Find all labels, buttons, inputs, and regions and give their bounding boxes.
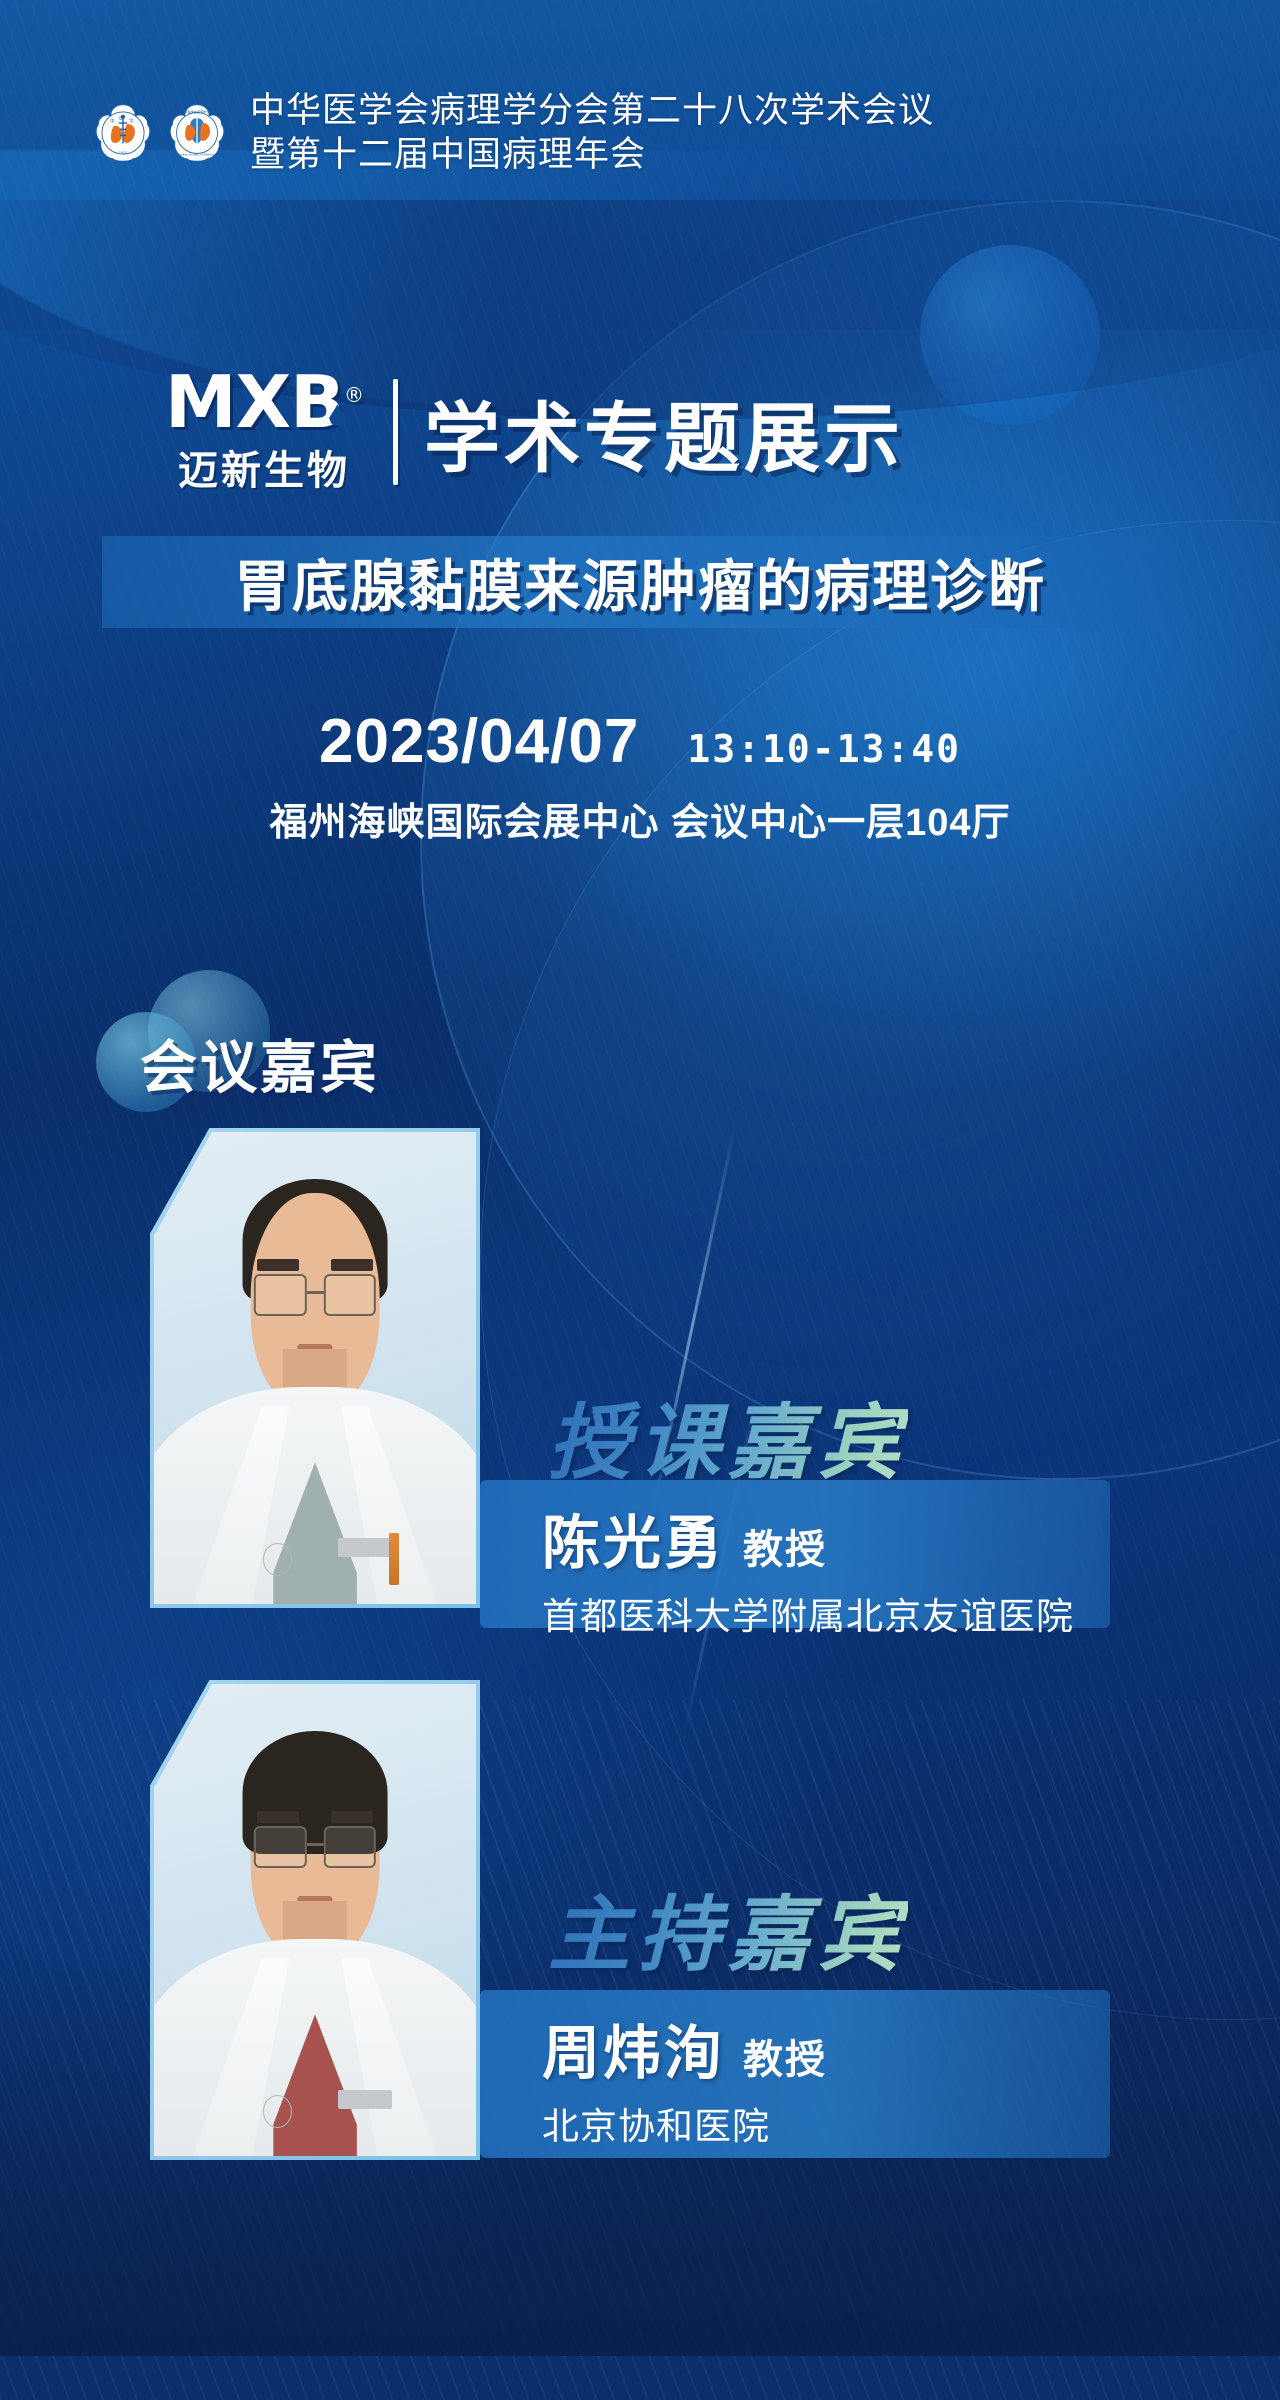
event-venue: 福州海峡国际会展中心 会议中心一层104厅	[0, 791, 1280, 846]
svg-text:医: 医	[119, 115, 124, 121]
event-time: 13:10-13:40	[687, 727, 961, 771]
speaker-card: 授课嘉宾 陈光勇 教授 首都医科大学附属北京友谊医院	[0, 1128, 1280, 1648]
portrait-eyebrow-left	[257, 1811, 299, 1823]
chinese-medical-association-emblem: 中 医 学 1915	[92, 102, 154, 164]
speaker-organization: 首都医科大学附属北京友谊医院	[542, 1586, 1110, 1640]
speaker-photo	[154, 1132, 476, 1604]
lecture-subtitle: 胃底腺黏膜来源肿瘤的病理诊断	[234, 542, 1046, 623]
portrait-glasses	[254, 1274, 376, 1316]
glasses-lens-left	[254, 1274, 307, 1316]
portrait-eyebrow-left	[257, 1259, 299, 1271]
conference-title-line-1: 中华医学会病理学分会第二十八次学术会议	[250, 89, 934, 133]
conference-title-line-2: 暨第十二届中国病理年会	[250, 133, 934, 177]
portrait-glasses	[254, 1826, 376, 1868]
conference-title: 中华医学会病理学分会第二十八次学术会议 暨第十二届中国病理年会	[250, 89, 934, 177]
event-datetime-block: 2023/04/07 13:10-13:40 福州海峡国际会展中心 会议中心一层…	[0, 706, 1280, 846]
mxb-logo: MXB® 迈新生物	[165, 368, 363, 496]
speaker-name-line: 陈光勇 教授	[542, 1496, 1110, 1580]
portrait-pen	[389, 1533, 399, 1585]
portrait-coat-logo	[263, 1543, 292, 1576]
glasses-bridge	[306, 1291, 323, 1294]
event-date: 2023/04/07	[319, 706, 639, 777]
speaker-name-plate: 周炜洵 教授 北京协和医院	[480, 1990, 1110, 2158]
speaker-name-plate: 陈光勇 教授 首都医科大学附属北京友谊医院	[480, 1480, 1110, 1628]
svg-text:中华医学会病理学分会: 中华医学会病理学分会	[182, 109, 213, 114]
mxb-letters: MXB	[165, 360, 344, 444]
emblem-group: 中 医 学 1915 中华医学会病理学分会 Chinese Society of…	[92, 102, 228, 164]
portrait-coat-logo	[263, 2095, 292, 2128]
speaker-organization: 北京协和医院	[542, 2096, 1110, 2150]
speaker-name-line: 周炜洵 教授	[542, 2006, 1110, 2090]
speaker-photo	[154, 1684, 476, 2156]
speaker-photo-frame	[150, 1128, 480, 1608]
speaker-title: 教授	[743, 2027, 827, 2085]
date-time-row: 2023/04/07 13:10-13:40	[0, 706, 1280, 777]
lecture-subtitle-bar: 胃底腺黏膜来源肿瘤的病理诊断	[102, 536, 1178, 628]
portrait-eyebrow-right	[331, 1811, 373, 1823]
poster-header: 中 医 学 1915 中华医学会病理学分会 Chinese Society of…	[0, 78, 1280, 188]
glasses-lens-right	[324, 1274, 377, 1316]
portrait-name-badge	[338, 2090, 393, 2109]
speaker-photo-frame	[150, 1680, 480, 2160]
portrait-illustration	[154, 1132, 476, 1604]
mxb-wordmark: MXB®	[165, 368, 363, 436]
glasses-bridge	[306, 1843, 323, 1846]
portrait-name-badge	[338, 1538, 393, 1557]
portrait-eyebrow-right	[331, 1259, 373, 1271]
mxb-chinese-name: 迈新生物	[178, 438, 350, 496]
glasses-lens-right	[324, 1826, 377, 1868]
vertical-divider	[393, 379, 398, 485]
brand-row: MXB® 迈新生物 学术专题展示	[0, 368, 1280, 496]
speaker-role-label: 授课嘉宾	[548, 1376, 908, 1495]
registered-mark-icon: ®	[344, 383, 363, 407]
speaker-role-label: 主持嘉宾	[548, 1868, 908, 1987]
chinese-society-of-pathology-emblem: 中华医学会病理学分会 Chinese Society of Pathology	[166, 102, 228, 164]
svg-text:1915: 1915	[119, 151, 127, 155]
svg-text:Chinese Society of Pathology: Chinese Society of Pathology	[176, 152, 218, 156]
speaker-name: 周炜洵	[542, 2006, 725, 2090]
banner-title: 学术专题展示	[424, 377, 904, 487]
guests-heading-label: 会议嘉宾	[140, 1022, 380, 1104]
portrait-illustration	[154, 1684, 476, 2156]
speaker-title: 教授	[743, 1517, 827, 1575]
guests-section-heading: 会议嘉宾	[96, 970, 556, 1100]
glasses-lens-left	[254, 1826, 307, 1868]
speaker-name: 陈光勇	[542, 1496, 725, 1580]
speaker-card: 主持嘉宾 周炜洵 教授 北京协和医院	[0, 1680, 1280, 2240]
